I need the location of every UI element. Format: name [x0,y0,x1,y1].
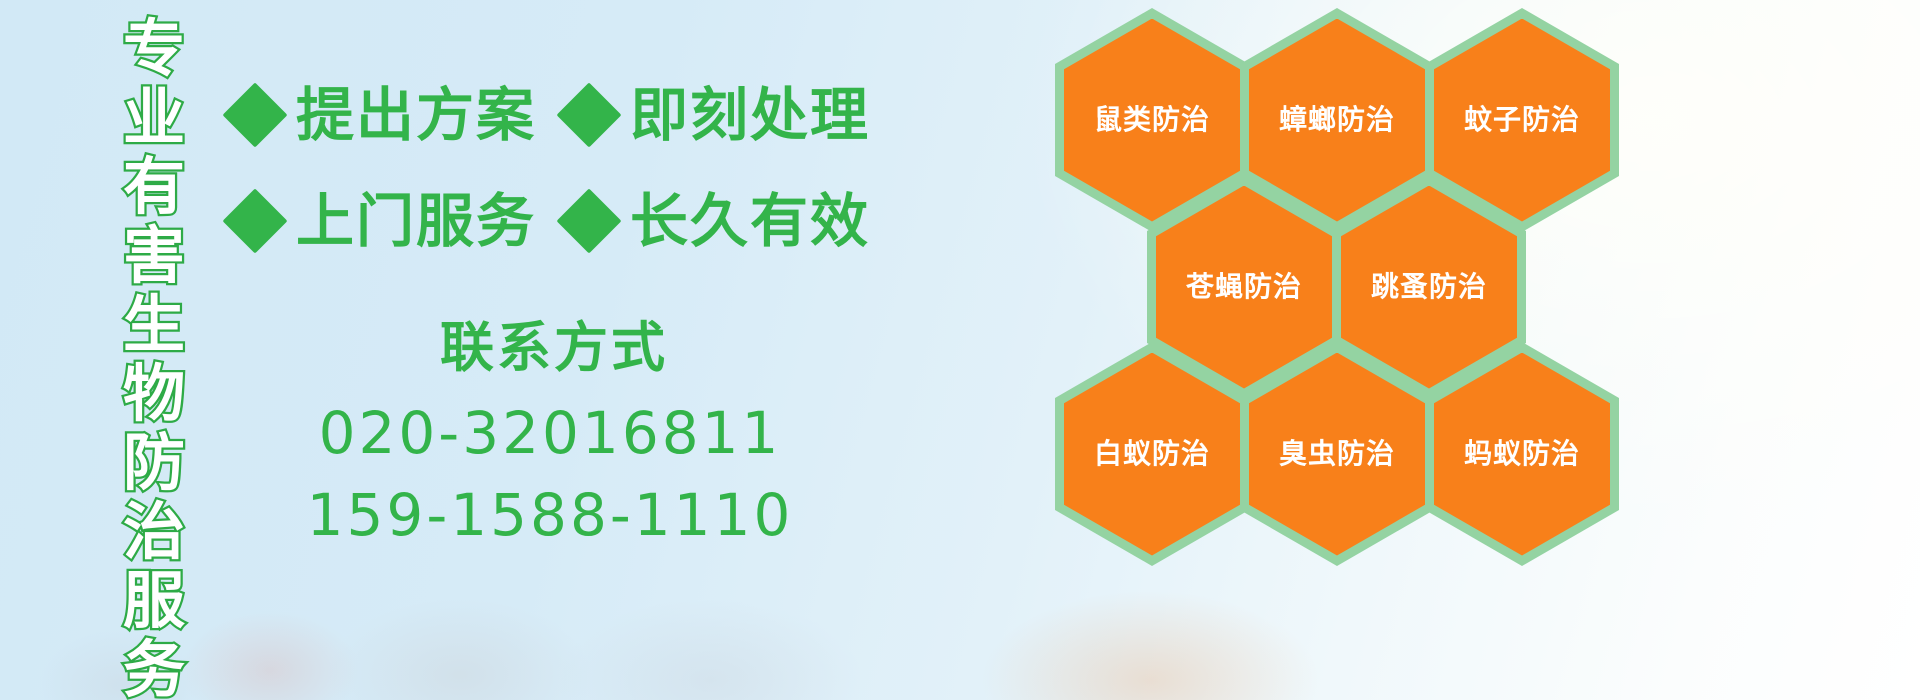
vertical-headline-char: 害 [123,221,185,290]
phone-mobile[interactable]: 159-1588-1110 [230,474,870,556]
background-photo-ghost [330,600,590,700]
vertical-headline-char: 防 [123,428,185,497]
vertical-headline-char: 物 [123,359,185,428]
feature-label: 即刻处理 [630,84,870,146]
feature-item: 即刻处理 [566,84,870,146]
service-hex-label: 跳蚤防治 [1371,272,1487,303]
feature-item: 长久有效 [566,190,870,252]
hex-inner: 蟑螂防治 [1249,19,1425,222]
vertical-headline-char: 业 [123,83,185,152]
contact-label: 联系方式 [238,312,870,384]
service-hex-label: 鼠类防治 [1094,105,1210,136]
hex-inner: 臭虫防治 [1249,353,1425,556]
contact-block: 联系方式 020-32016811 159-1588-1110 [230,312,870,556]
feature-label: 长久有效 [630,190,870,252]
service-hex-label: 白蚁防治 [1094,439,1210,470]
hex-inner: 蚂蚁防治 [1434,353,1610,556]
background-photo-ghost [560,600,860,700]
service-hex-label: 苍蝇防治 [1186,272,1302,303]
promo-banner: 专 业 有 害 生 物 防 治 服 务 提出方案 即刻处理 上门服务 长久有效 [0,0,1920,700]
hex-inner: 蚊子防治 [1434,19,1610,222]
vertical-headline-char: 服 [123,566,185,635]
service-honeycomb: 鼠类防治 蟑螂防治 蚊子防治 苍蝇防治 跳蚤防治 白蚁防治 [1055,0,1695,700]
feature-item: 上门服务 [232,190,536,252]
vertical-headline-char: 有 [123,152,185,221]
vertical-headline-char: 务 [123,635,185,700]
feature-row-1: 提出方案 即刻处理 [232,84,870,146]
hex-inner: 白蚁防治 [1064,353,1240,556]
background-photo-ghost [180,610,360,700]
diamond-icon [222,188,287,253]
diamond-icon [556,188,621,253]
phone-landline[interactable]: 020-32016811 [230,392,870,474]
vertical-headline-char: 专 [123,14,185,83]
hex-inner: 跳蚤防治 [1341,186,1517,389]
vertical-headline-char: 生 [123,290,185,359]
feature-item: 提出方案 [232,84,536,146]
diamond-icon [556,82,621,147]
service-hex-label: 蚊子防治 [1464,105,1580,136]
feature-label: 上门服务 [296,190,536,252]
hex-inner: 鼠类防治 [1064,19,1240,222]
service-hex-label: 蚂蚁防治 [1464,439,1580,470]
vertical-headline-char: 治 [123,497,185,566]
feature-row-2: 上门服务 长久有效 [232,190,870,252]
vertical-headline: 专 业 有 害 生 物 防 治 服 务 [112,14,196,574]
service-hex-label: 蟑螂防治 [1279,105,1395,136]
feature-label: 提出方案 [296,84,536,146]
hex-inner: 苍蝇防治 [1156,186,1332,389]
service-hex-label: 臭虫防治 [1279,439,1395,470]
diamond-icon [222,82,287,147]
